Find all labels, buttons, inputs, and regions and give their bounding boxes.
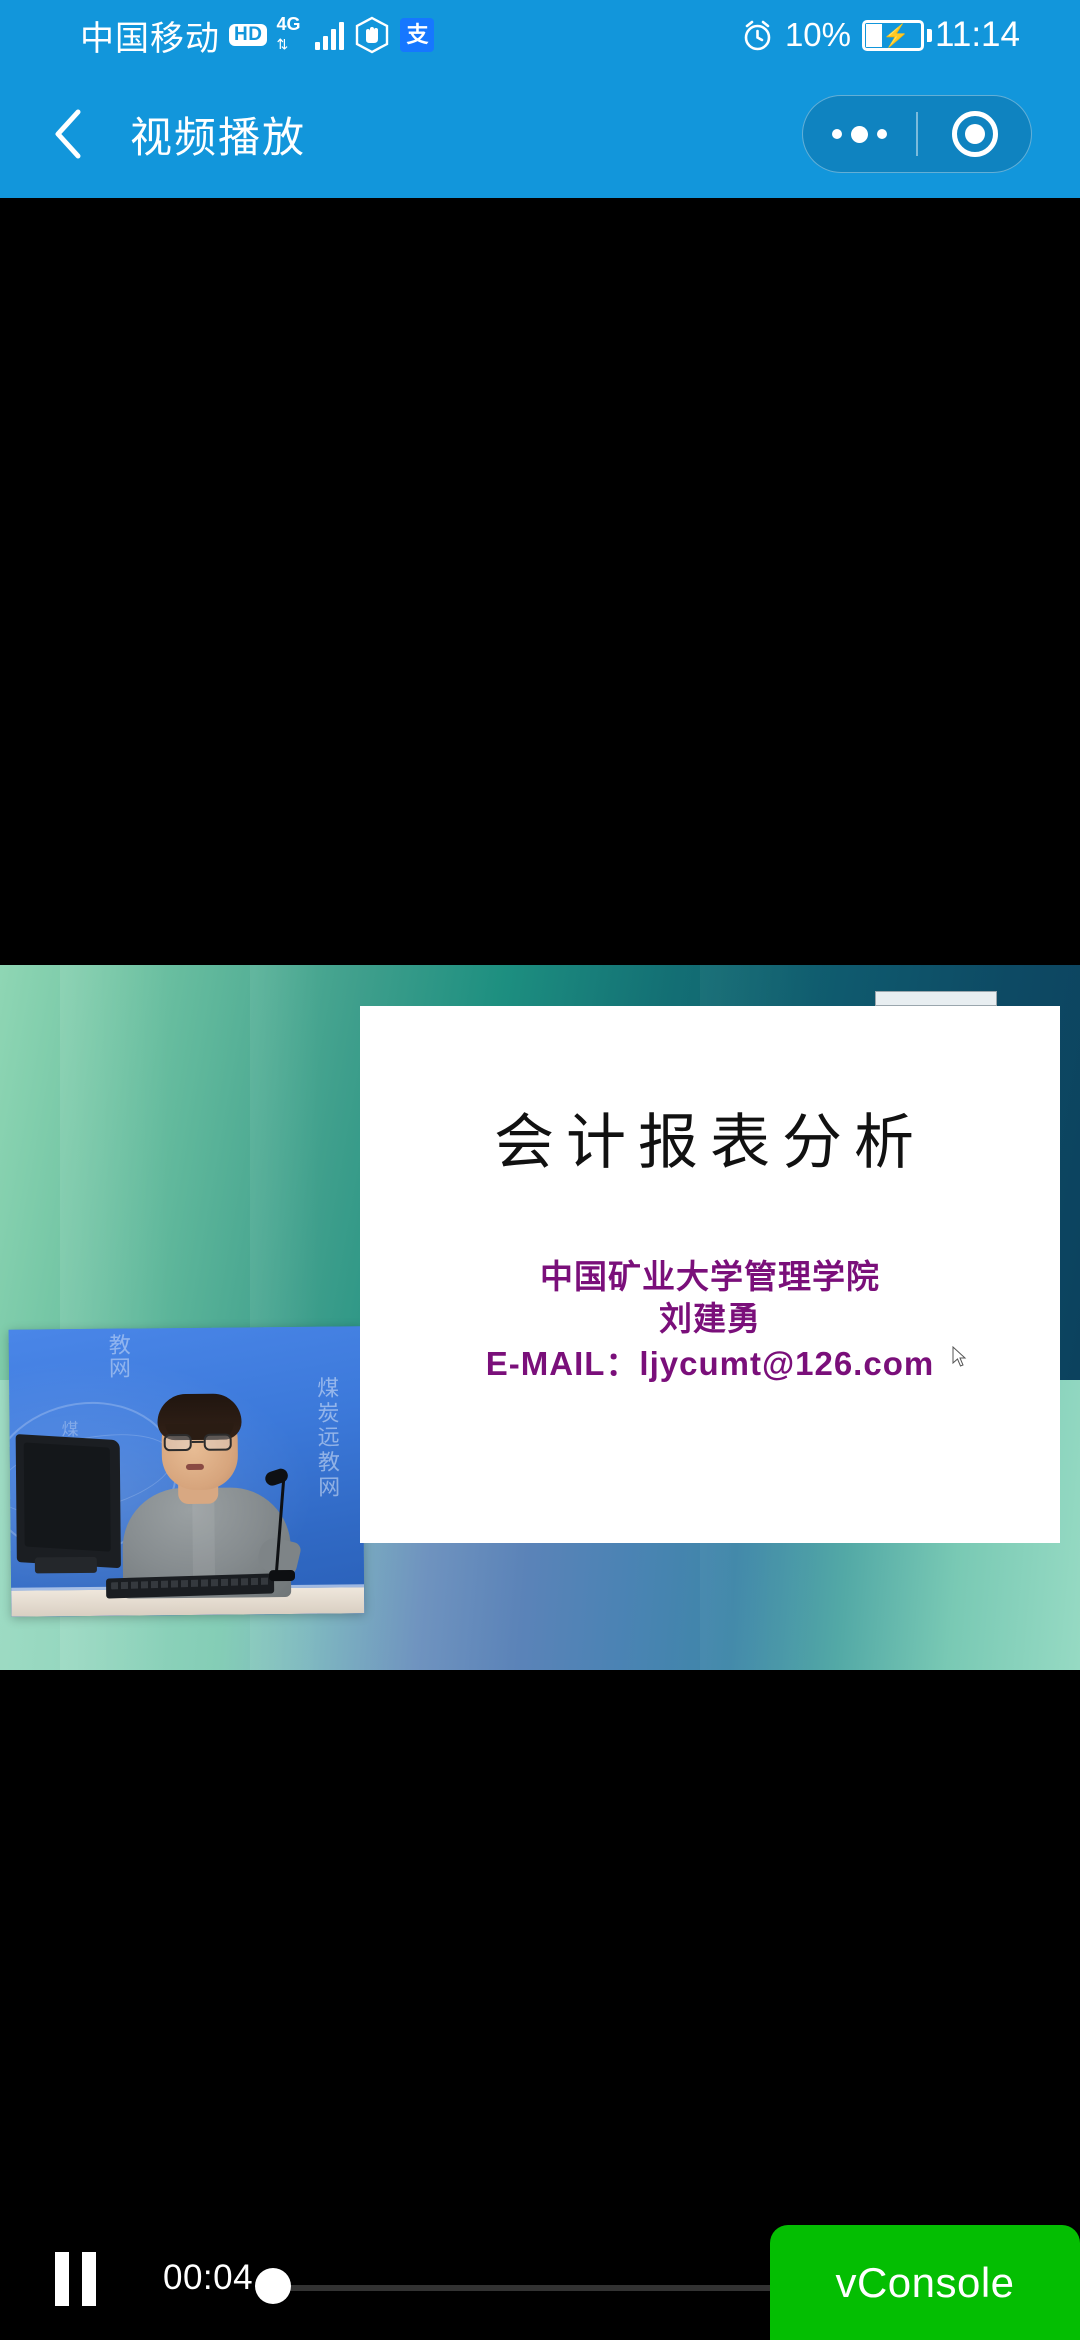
- desk-monitor: [16, 1434, 121, 1568]
- seek-thumb[interactable]: [255, 2268, 291, 2304]
- page-title: 视频播放: [130, 104, 306, 165]
- status-bar-right: 10% ⚡ 11:14: [741, 15, 1020, 55]
- slide-presenter-name: 刘建勇: [360, 1298, 1060, 1340]
- status-bar: 中国移动 HD 4G ⇅ 支: [0, 0, 1080, 70]
- mouse-pointer-icon: [952, 1346, 967, 1368]
- microphone-base: [269, 1570, 295, 1581]
- pause-button[interactable]: [55, 2252, 109, 2306]
- battery-icon: ⚡: [862, 20, 924, 51]
- target-circle-icon[interactable]: [918, 111, 1031, 157]
- hd-icon: HD: [229, 24, 267, 47]
- clock-label: 11:14: [935, 15, 1020, 55]
- battery-percent-label: 10%: [785, 16, 851, 54]
- monitor-stand: [35, 1557, 97, 1574]
- chevron-left-icon: [50, 106, 90, 162]
- backdrop-watermark-top: 教网: [107, 1334, 133, 1380]
- alarm-clock-icon: [741, 19, 774, 52]
- player-controls: 00:04 --:-- vConsole: [0, 2210, 1080, 2340]
- data-arrows-icon: ⇅: [276, 36, 287, 53]
- presentation-slide: 会计报表分析 中国矿业大学管理学院 刘建勇 E-MAIL：ljycumt@126…: [360, 1006, 1060, 1543]
- presenter-video-inset: 教网 煤炭远教网 煤: [9, 1326, 365, 1616]
- hand-icon: [353, 16, 391, 54]
- signal-strength-icon: [315, 20, 344, 50]
- alipay-icon: 支: [400, 18, 434, 52]
- status-bar-left: 中国移动 HD 4G ⇅ 支: [80, 11, 434, 60]
- back-button[interactable]: [20, 84, 120, 184]
- slide-subtitle-block: 中国矿业大学管理学院 刘建勇 E-MAIL：ljycumt@126.com: [360, 1256, 1060, 1388]
- phone-screen: 中国移动 HD 4G ⇅ 支: [0, 0, 1080, 2340]
- slide-top-artifact: [875, 991, 997, 1006]
- slide-title: 会计报表分析: [360, 1094, 1060, 1181]
- backdrop-watermark-right: 煤炭远教网: [316, 1377, 341, 1500]
- video-player-surface[interactable]: 教网 煤炭远教网 煤: [0, 198, 1080, 2340]
- carrier-label: 中国移动: [80, 11, 220, 60]
- presenter-glasses: [164, 1434, 236, 1454]
- nav-bar: 视频播放: [0, 70, 1080, 198]
- vconsole-button[interactable]: vConsole: [770, 2225, 1080, 2340]
- miniprogram-capsule: [802, 95, 1032, 173]
- presenter-mouth: [186, 1464, 204, 1470]
- more-dots-icon[interactable]: [803, 126, 916, 143]
- network-type-icon: 4G ⇅: [276, 16, 306, 54]
- slide-affiliation: 中国矿业大学管理学院: [360, 1256, 1060, 1298]
- video-frame: 教网 煤炭远教网 煤: [0, 965, 1080, 1670]
- current-time-label: 00:04: [163, 2258, 253, 2298]
- network-type-label: 4G: [276, 14, 300, 35]
